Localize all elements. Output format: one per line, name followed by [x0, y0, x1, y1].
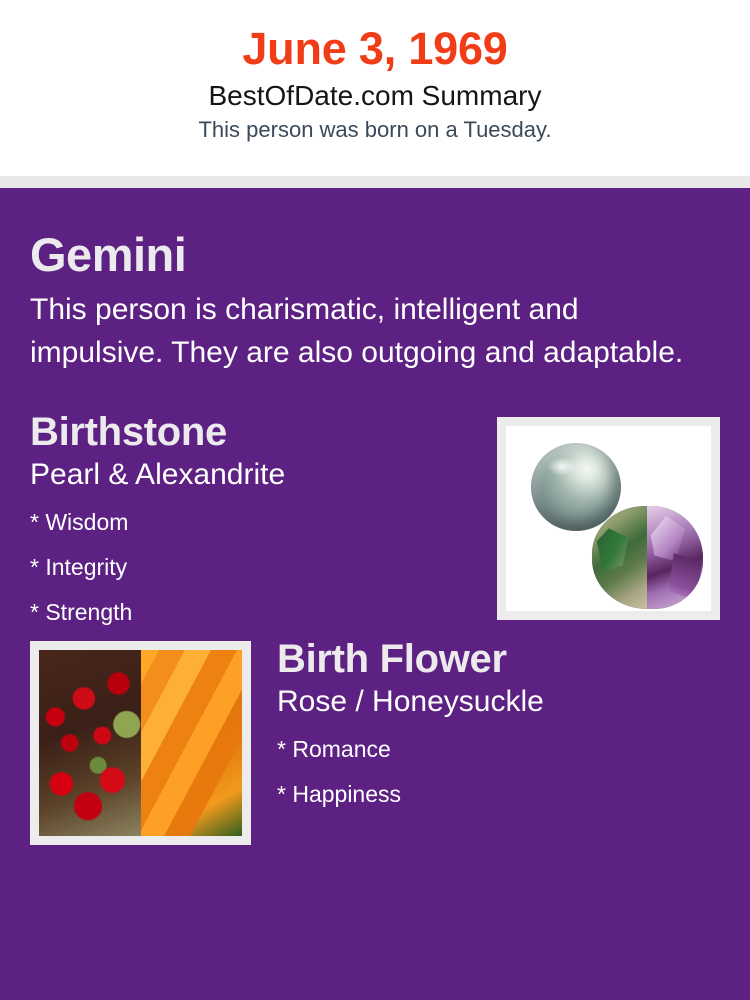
- page-title: June 3, 1969: [0, 22, 750, 76]
- list-item: * Romance: [277, 727, 720, 772]
- birth-flower-heading: Birth Flower: [277, 635, 720, 683]
- birthstone-image-frame: [497, 417, 720, 620]
- zodiac-description: This person is charismatic, intelligent …: [30, 288, 695, 374]
- summary-panel: Gemini This person is charismatic, intel…: [0, 188, 750, 1000]
- birth-flower-image: [39, 650, 242, 836]
- orange-honeysuckle-photo: [141, 650, 243, 836]
- list-item: * Integrity: [30, 545, 467, 590]
- list-item: * Strength: [30, 590, 467, 635]
- alexandrite-gem-icon: [592, 506, 703, 610]
- alexandrite-faceted-half: [647, 506, 702, 610]
- header-divider: [0, 176, 750, 188]
- birth-flower-traits-list: * Romance * Happiness: [277, 727, 720, 817]
- birth-flower-text-block: Birth Flower Rose / Honeysuckle * Romanc…: [277, 635, 720, 817]
- born-day-label: This person was born on a Tuesday.: [0, 115, 750, 145]
- list-item: * Wisdom: [30, 500, 467, 545]
- birthstone-text-block: Birthstone Pearl & Alexandrite * Wisdom …: [30, 408, 467, 635]
- birthstone-traits-list: * Wisdom * Integrity * Strength: [30, 500, 467, 635]
- alexandrite-rough-half: [592, 506, 650, 610]
- page-header: June 3, 1969 BestOfDate.com Summary This…: [0, 0, 750, 176]
- red-roses-photo: [39, 650, 141, 836]
- birthstone-name: Pearl & Alexandrite: [30, 456, 467, 494]
- birthstone-heading: Birthstone: [30, 408, 467, 456]
- site-summary-label: BestOfDate.com Summary: [0, 78, 750, 114]
- birthstone-section: Birthstone Pearl & Alexandrite * Wisdom …: [30, 408, 720, 635]
- birth-flower-name: Rose / Honeysuckle: [277, 683, 720, 721]
- zodiac-sign-heading: Gemini: [30, 188, 720, 282]
- birthstone-image: [506, 426, 711, 611]
- birth-flower-section: Birth Flower Rose / Honeysuckle * Romanc…: [30, 635, 720, 845]
- list-item: * Happiness: [277, 772, 720, 817]
- birth-flower-image-frame: [30, 641, 251, 845]
